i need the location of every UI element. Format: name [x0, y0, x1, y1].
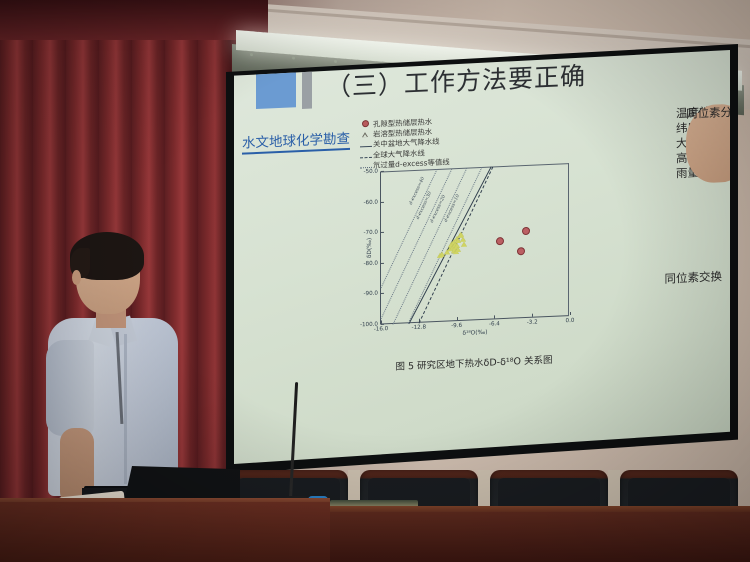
- curtain-valance: [0, 0, 268, 40]
- data-point-circle: [522, 227, 530, 235]
- x-axis-tick-label: 0.0: [566, 318, 575, 324]
- shirt-placket: [124, 334, 127, 484]
- x-axis-tick: [381, 320, 382, 323]
- data-point-triangle: [461, 242, 467, 247]
- dashed-line-icon: [358, 150, 373, 161]
- x-axis-tick: [494, 315, 495, 318]
- y-axis-tick: [381, 232, 384, 233]
- isotope-exchange-label: 同位素交换: [665, 268, 723, 287]
- slide-left-label: 水文地球化学勘查: [242, 127, 350, 155]
- projection-screen: （三）工作方法要正确 水文地球化学勘查 孔隙型热储层热水 岩溶型热储层热水 关中…: [234, 50, 730, 464]
- x-axis-tick-label: -3.2: [527, 319, 538, 325]
- data-point-circle: [517, 247, 525, 255]
- slide-accent-blue-square: [256, 69, 296, 109]
- x-axis-tick-label: -9.6: [451, 323, 462, 329]
- data-point-circle: [496, 237, 504, 245]
- open-triangle-icon: [358, 130, 373, 141]
- x-axis-label: δ¹⁸O(‰): [462, 330, 487, 337]
- y-axis-tick: [381, 263, 384, 264]
- x-axis-tick-label: -12.8: [412, 324, 426, 331]
- presenter-ear: [72, 270, 81, 285]
- plot-right-border: [568, 163, 569, 315]
- scatter-chart: δD(‰) δ¹⁸O(‰) -50.0-60.0-70.0-80.0-90.0-…: [344, 155, 580, 354]
- x-axis-tick: [532, 314, 533, 317]
- reference-line: [381, 169, 438, 288]
- figure-caption: 图 5 研究区地下热水δD-δ¹⁸O 关系图: [344, 350, 604, 376]
- y-axis-tick-label: -50.0: [364, 169, 378, 176]
- solid-line-icon: [358, 140, 373, 151]
- red-circle-icon: [358, 120, 373, 131]
- slide-accent-gray-bar: [302, 67, 312, 109]
- plot-area: δD(‰) δ¹⁸O(‰) -50.0-60.0-70.0-80.0-90.0-…: [380, 163, 569, 324]
- presenter-sleeve: [46, 340, 94, 436]
- lecture-hall-photo: （三）工作方法要正确 水文地球化学勘查 孔隙型热储层热水 岩溶型热储层热水 关中…: [0, 0, 750, 562]
- data-point-triangle: [455, 247, 461, 252]
- y-axis-tick: [381, 201, 384, 202]
- slide-right-column: 同位素分馏 温度效应 纬度效应 大陆效应 高度效应 雨量效应: [658, 104, 722, 182]
- x-axis-tick: [570, 312, 571, 315]
- plot-top-border: [381, 163, 569, 172]
- y-axis-tick-label: -60.0: [364, 199, 378, 206]
- x-axis-tick: [457, 317, 458, 320]
- y-axis-tick: [381, 324, 384, 325]
- presentation-slide: （三）工作方法要正确 水文地球化学勘查 孔隙型热储层热水 岩溶型热储层热水 关中…: [234, 50, 730, 464]
- y-axis-tick: [381, 171, 384, 172]
- x-axis-tick-label: -6.4: [489, 321, 500, 327]
- isotope-fractionation-heading: 同位素分馏: [686, 103, 730, 184]
- y-axis-tick-label: -70.0: [364, 230, 378, 237]
- front-desk-right: [318, 512, 750, 562]
- y-axis-tick-label: -90.0: [364, 291, 378, 298]
- y-axis-label: δD(‰): [367, 238, 373, 259]
- y-axis-tick: [381, 293, 384, 294]
- x-axis-tick-label: -16.0: [374, 326, 388, 333]
- y-axis-tick-label: -80.0: [364, 260, 378, 267]
- podium-front: [0, 502, 330, 562]
